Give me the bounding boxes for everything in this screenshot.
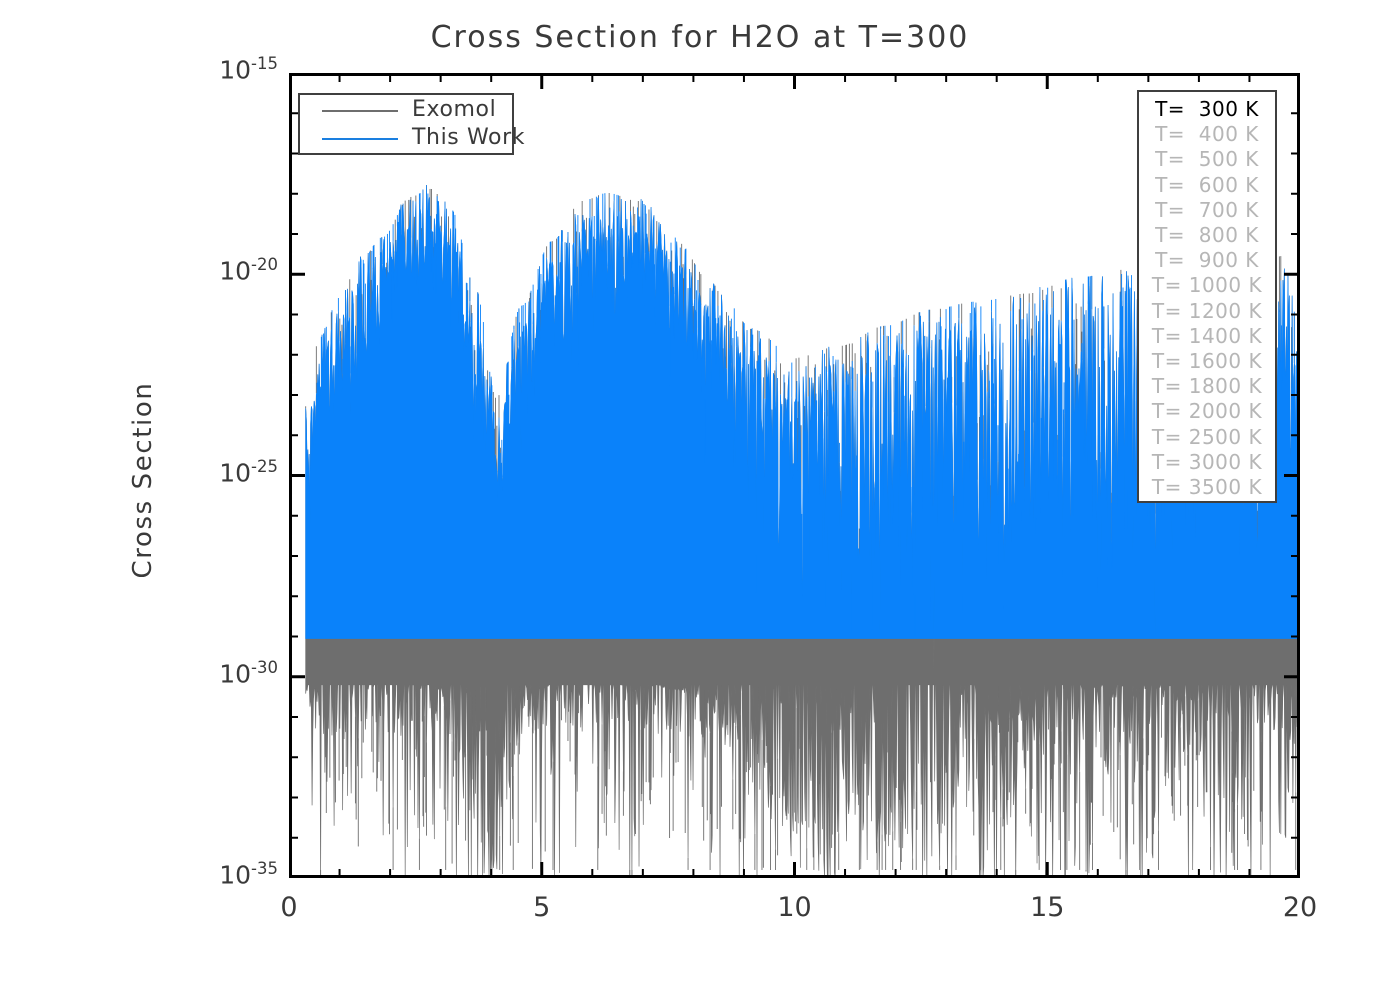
legend-label-exomol: Exomol [412,97,496,122]
temperature-item[interactable]: T= 800 K [1139,223,1275,248]
legend-swatch-this-work [322,138,398,140]
y-tick-label: 10-15 [219,54,278,84]
legend-item-exomol[interactable]: Exomol [300,96,512,125]
temperature-item[interactable]: T= 1400 K [1139,324,1275,349]
temperature-item[interactable]: T= 3500 K [1139,475,1275,500]
chart-canvas: Cross Section for H2O at T=300 Cross Sec… [0,0,1400,1000]
temperature-item[interactable]: T= 300 K [1139,97,1275,122]
y-tick-label: 10-35 [219,859,278,889]
x-tick-label: 5 [533,892,550,923]
temperature-item[interactable]: T= 2000 K [1139,399,1275,424]
y-tick-label: 10-20 [219,255,278,285]
legend-box[interactable]: Exomol This Work [298,93,514,155]
temperature-list-panel[interactable]: T= 300 KT= 400 KT= 500 KT= 600 KT= 700 K… [1137,90,1277,503]
temperature-item[interactable]: T= 1000 K [1139,273,1275,298]
x-tick-label: 20 [1283,892,1317,923]
legend-label-this-work: This Work [412,125,525,150]
temperature-item[interactable]: T= 1200 K [1139,299,1275,324]
x-tick-label: 15 [1030,892,1064,923]
temperature-item[interactable]: T= 500 K [1139,147,1275,172]
x-tick-label: 10 [777,892,811,923]
y-tick-label: 10-25 [219,457,278,487]
legend-item-this-work[interactable]: This Work [300,124,512,153]
y-tick-label: 10-30 [219,658,278,688]
temperature-item[interactable]: T= 600 K [1139,173,1275,198]
temperature-item[interactable]: T= 1600 K [1139,349,1275,374]
temperature-item[interactable]: T= 3000 K [1139,450,1275,475]
temperature-item[interactable]: T= 1800 K [1139,374,1275,399]
temperature-item[interactable]: T= 900 K [1139,248,1275,273]
y-axis-title: Cross Section [128,200,168,760]
x-tick-label: 0 [280,892,297,923]
temperature-item[interactable]: T= 400 K [1139,122,1275,147]
page-title: Cross Section for H2O at T=300 [0,20,1400,55]
legend-swatch-exomol [322,110,398,112]
temperature-item[interactable]: T= 2500 K [1139,425,1275,450]
temperature-item[interactable]: T= 700 K [1139,198,1275,223]
